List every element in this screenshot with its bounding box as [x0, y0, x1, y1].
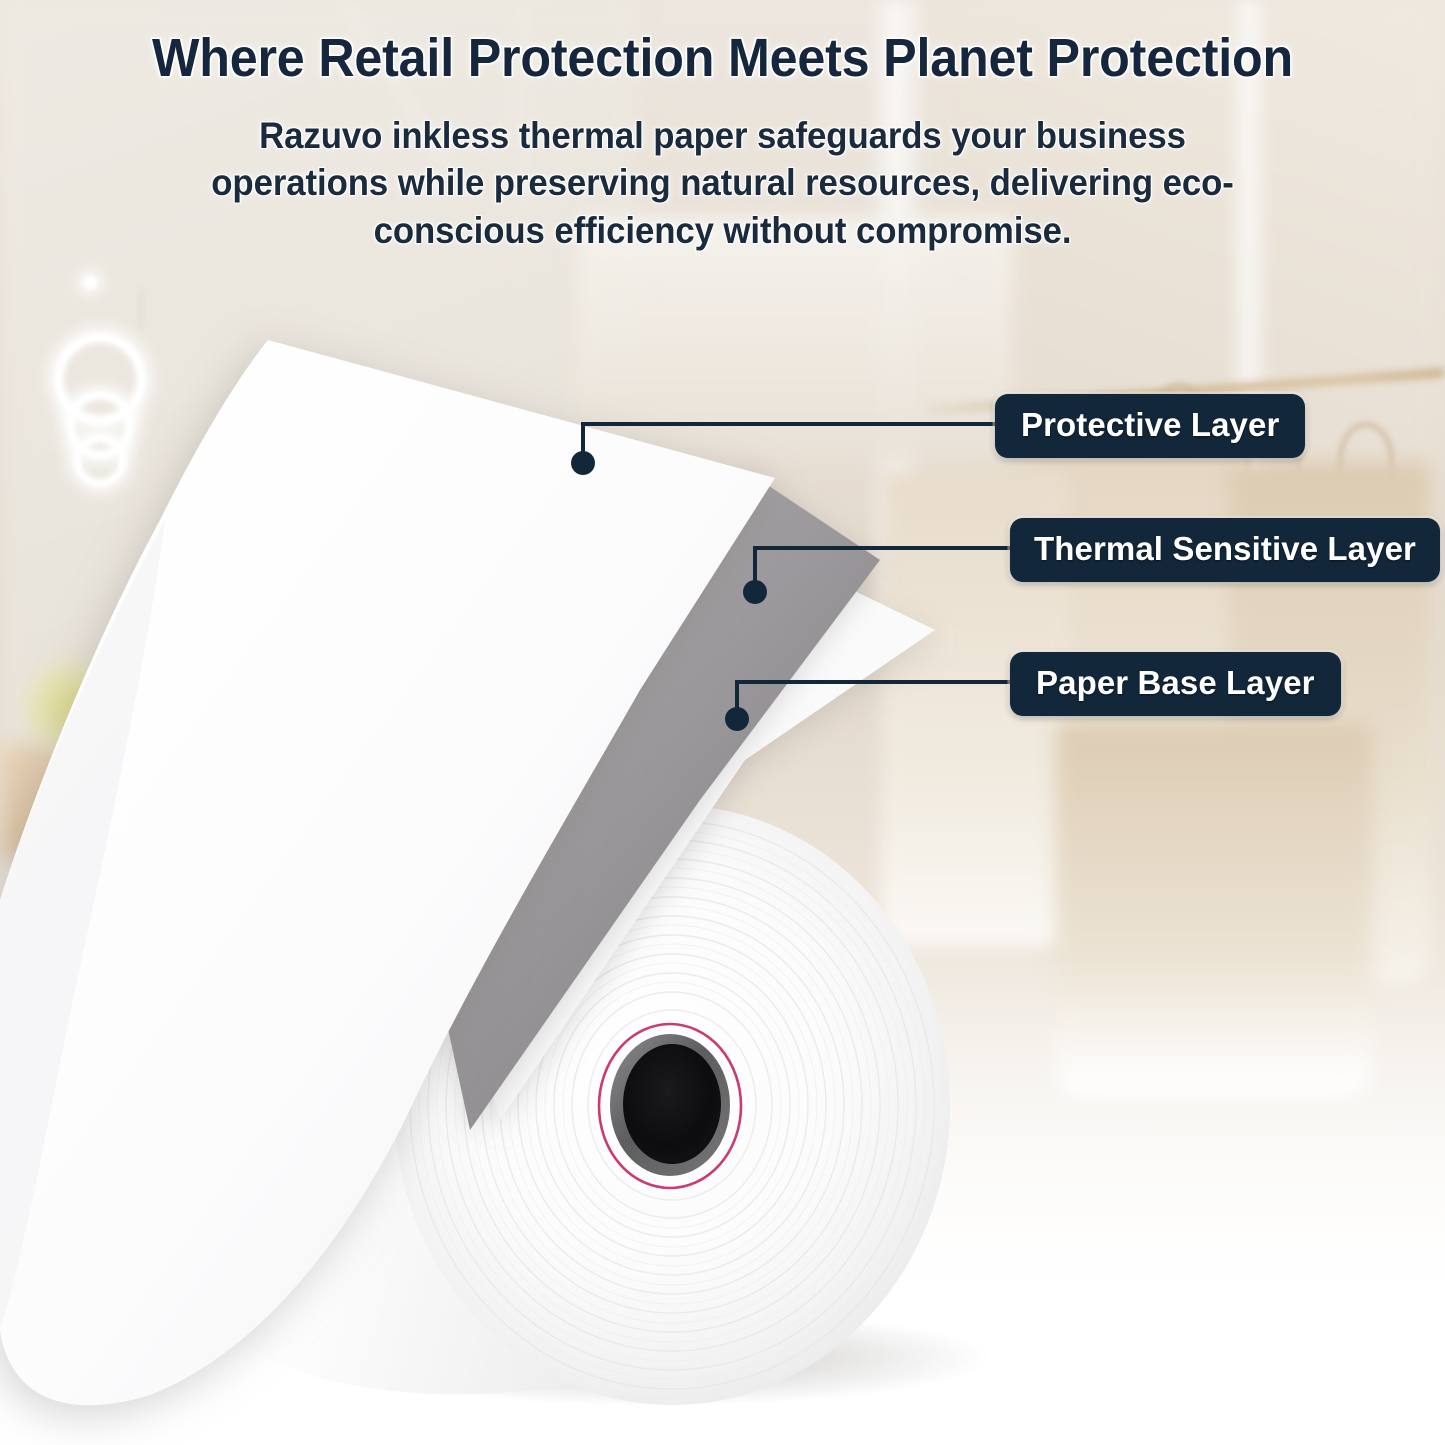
callout-paper-base-layer[interactable]: Paper Base Layer	[1010, 652, 1341, 716]
leader-dot-thermal	[743, 580, 767, 604]
leader-dot-base	[725, 707, 749, 731]
page-subheadline: Razuvo inkless thermal paper safeguards …	[184, 112, 1260, 254]
callout-label-base: Paper Base Layer	[1010, 652, 1341, 716]
header-block: Where Retail Protection Meets Planet Pro…	[0, 30, 1445, 87]
callout-protective-layer[interactable]: Protective Layer	[995, 394, 1305, 458]
page-headline: Where Retail Protection Meets Planet Pro…	[51, 30, 1395, 87]
leader-line-base	[725, 682, 1015, 731]
callout-thermal-sensitive-layer[interactable]: Thermal Sensitive Layer	[1010, 518, 1440, 582]
callout-label-protective: Protective Layer	[995, 394, 1305, 458]
leader-dot-protective	[571, 451, 595, 475]
leader-line-thermal	[743, 548, 1015, 604]
product-infographic: Protective Layer Thermal Sensitive Layer…	[0, 0, 1445, 1445]
subheader-block: Razuvo inkless thermal paper safeguards …	[0, 112, 1445, 254]
leader-line-protective	[571, 424, 1000, 475]
callout-label-thermal: Thermal Sensitive Layer	[1010, 518, 1440, 582]
